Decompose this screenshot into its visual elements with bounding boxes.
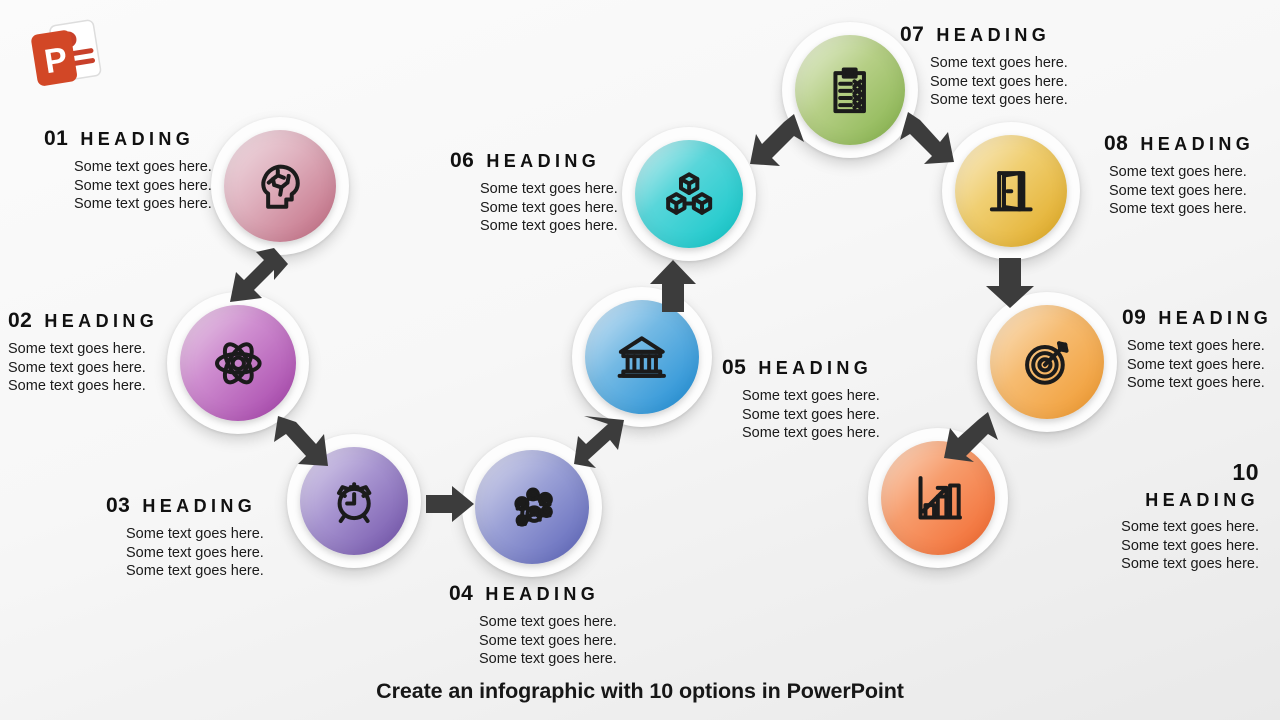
step-body: Some text goes here. Some text goes here… xyxy=(722,387,880,443)
arrow-05-to-06 xyxy=(648,258,698,314)
step-heading: 02HEADING xyxy=(8,310,158,331)
step-circle-6[interactable] xyxy=(622,127,756,261)
step-heading: 07HEADING xyxy=(900,24,1068,45)
body-line: Some text goes here. xyxy=(1127,374,1272,393)
body-line: Some text goes here. xyxy=(480,199,618,218)
circle-disc-8 xyxy=(955,135,1067,247)
step-text-7: 07HEADING Some text goes here. Some text… xyxy=(900,24,1068,110)
body-line: Some text goes here. xyxy=(74,158,212,177)
step-text-1: 01HEADING Some text goes here. Some text… xyxy=(44,128,212,214)
atom-icon xyxy=(207,332,270,395)
step-title: HEADING xyxy=(486,151,600,171)
ai-head-icon xyxy=(250,156,310,216)
step-body: Some text goes here. Some text goes here… xyxy=(450,180,618,236)
step-title: HEADING xyxy=(1158,308,1272,328)
step-number: 01 xyxy=(44,127,68,150)
step-heading: 10 HEADING xyxy=(1121,461,1259,509)
body-line: Some text goes here. xyxy=(8,377,158,396)
step-number: 02 xyxy=(8,309,32,332)
step-title: HEADING xyxy=(936,25,1050,45)
step-number: 04 xyxy=(449,582,473,605)
body-line: Some text goes here. xyxy=(1127,356,1272,375)
clipboard-checklist-icon xyxy=(820,60,879,119)
arrow-07-to-08 xyxy=(898,110,956,168)
target-arrow-icon xyxy=(1016,331,1078,393)
step-text-5: 05HEADING Some text goes here. Some text… xyxy=(722,357,880,443)
step-circle-1[interactable] xyxy=(211,117,349,255)
step-number: 09 xyxy=(1122,306,1146,329)
body-line: Some text goes here. xyxy=(479,650,617,669)
step-number: 07 xyxy=(900,23,924,46)
step-body: Some text goes here. Some text goes here… xyxy=(1104,163,1254,219)
body-line: Some text goes here. xyxy=(126,544,264,563)
body-line: Some text goes here. xyxy=(930,54,1068,73)
step-body: Some text goes here. Some text goes here… xyxy=(1121,518,1259,574)
step-title: HEADING xyxy=(44,311,158,331)
step-number: 08 xyxy=(1104,132,1128,155)
body-line: Some text goes here. xyxy=(1109,163,1254,182)
body-line: Some text goes here. xyxy=(74,195,212,214)
infographic-slide: P xyxy=(0,0,1280,720)
step-heading: 01HEADING xyxy=(44,128,212,149)
body-line: Some text goes here. xyxy=(1121,537,1259,556)
step-title: HEADING xyxy=(1140,134,1254,154)
arrow-08-to-09 xyxy=(984,256,1036,310)
step-text-3: 03HEADING Some text goes here. Some text… xyxy=(106,495,264,581)
body-line: Some text goes here. xyxy=(1127,337,1272,356)
step-number: 03 xyxy=(106,494,130,517)
body-line: Some text goes here. xyxy=(742,424,880,443)
step-title: HEADING xyxy=(80,129,194,149)
arrow-09-to-10 xyxy=(942,408,1000,464)
body-line: Some text goes here. xyxy=(930,73,1068,92)
step-circle-8[interactable] xyxy=(942,122,1080,260)
step-text-4: 04HEADING Some text goes here. Some text… xyxy=(449,583,617,669)
body-line: Some text goes here. xyxy=(1121,518,1259,537)
body-line: Some text goes here. xyxy=(74,177,212,196)
arrow-04-to-05 xyxy=(572,414,630,472)
step-body: Some text goes here. Some text goes here… xyxy=(449,613,617,669)
arrow-03-to-04 xyxy=(424,484,476,524)
circle-disc-7 xyxy=(795,35,905,145)
step-body: Some text goes here. Some text goes here… xyxy=(44,158,212,214)
step-title: HEADING xyxy=(758,358,872,378)
step-body: Some text goes here. Some text goes here… xyxy=(900,54,1068,110)
open-door-icon xyxy=(981,161,1041,221)
step-title: HEADING xyxy=(142,496,256,516)
circle-disc-2 xyxy=(180,305,296,421)
step-text-10: 10 HEADING Some text goes here. Some tex… xyxy=(1121,461,1259,574)
body-line: Some text goes here. xyxy=(480,217,618,236)
body-line: Some text goes here. xyxy=(742,406,880,425)
body-line: Some text goes here. xyxy=(8,359,158,378)
step-body: Some text goes here. Some text goes here… xyxy=(1122,337,1272,393)
step-heading: 03HEADING xyxy=(106,495,264,516)
body-line: Some text goes here. xyxy=(930,91,1068,110)
body-line: Some text goes here. xyxy=(1109,182,1254,201)
body-line: Some text goes here. xyxy=(479,632,617,651)
circle-disc-9 xyxy=(990,305,1104,419)
people-network-icon xyxy=(501,476,563,538)
alarm-clock-icon xyxy=(325,472,383,530)
step-title: HEADING xyxy=(1121,491,1259,509)
step-number: 06 xyxy=(450,149,474,172)
blockchain-cubes-icon xyxy=(660,165,718,223)
arrow-01-to-02 xyxy=(228,246,290,304)
step-title: HEADING xyxy=(485,584,599,604)
step-heading: 06HEADING xyxy=(450,150,618,171)
body-line: Some text goes here. xyxy=(1121,555,1259,574)
step-heading: 08HEADING xyxy=(1104,133,1254,154)
bank-building-icon xyxy=(611,326,673,388)
step-number: 10 xyxy=(1121,461,1259,484)
footer-caption: Create an infographic with 10 options in… xyxy=(0,679,1280,704)
step-text-9: 09HEADING Some text goes here. Some text… xyxy=(1122,307,1272,393)
body-line: Some text goes here. xyxy=(480,180,618,199)
circle-disc-5 xyxy=(585,300,699,414)
step-body: Some text goes here. Some text goes here… xyxy=(106,525,264,581)
body-line: Some text goes here. xyxy=(126,525,264,544)
step-text-2: 02HEADING Some text goes here. Some text… xyxy=(8,310,158,396)
bar-chart-growth-icon xyxy=(907,467,969,529)
step-heading: 04HEADING xyxy=(449,583,617,604)
circle-disc-6 xyxy=(635,140,743,248)
powerpoint-logo: P xyxy=(24,18,110,94)
circle-disc-1 xyxy=(224,130,336,242)
step-heading: 09HEADING xyxy=(1122,307,1272,328)
step-text-8: 08HEADING Some text goes here. Some text… xyxy=(1104,133,1254,219)
body-line: Some text goes here. xyxy=(742,387,880,406)
arrow-06-to-07 xyxy=(748,112,806,170)
body-line: Some text goes here. xyxy=(126,562,264,581)
body-line: Some text goes here. xyxy=(479,613,617,632)
step-number: 05 xyxy=(722,356,746,379)
step-body: Some text goes here. Some text goes here… xyxy=(8,340,158,396)
step-heading: 05HEADING xyxy=(722,357,880,378)
body-line: Some text goes here. xyxy=(8,340,158,359)
body-line: Some text goes here. xyxy=(1109,200,1254,219)
arrow-02-to-03 xyxy=(272,412,332,468)
step-text-6: 06HEADING Some text goes here. Some text… xyxy=(450,150,618,236)
